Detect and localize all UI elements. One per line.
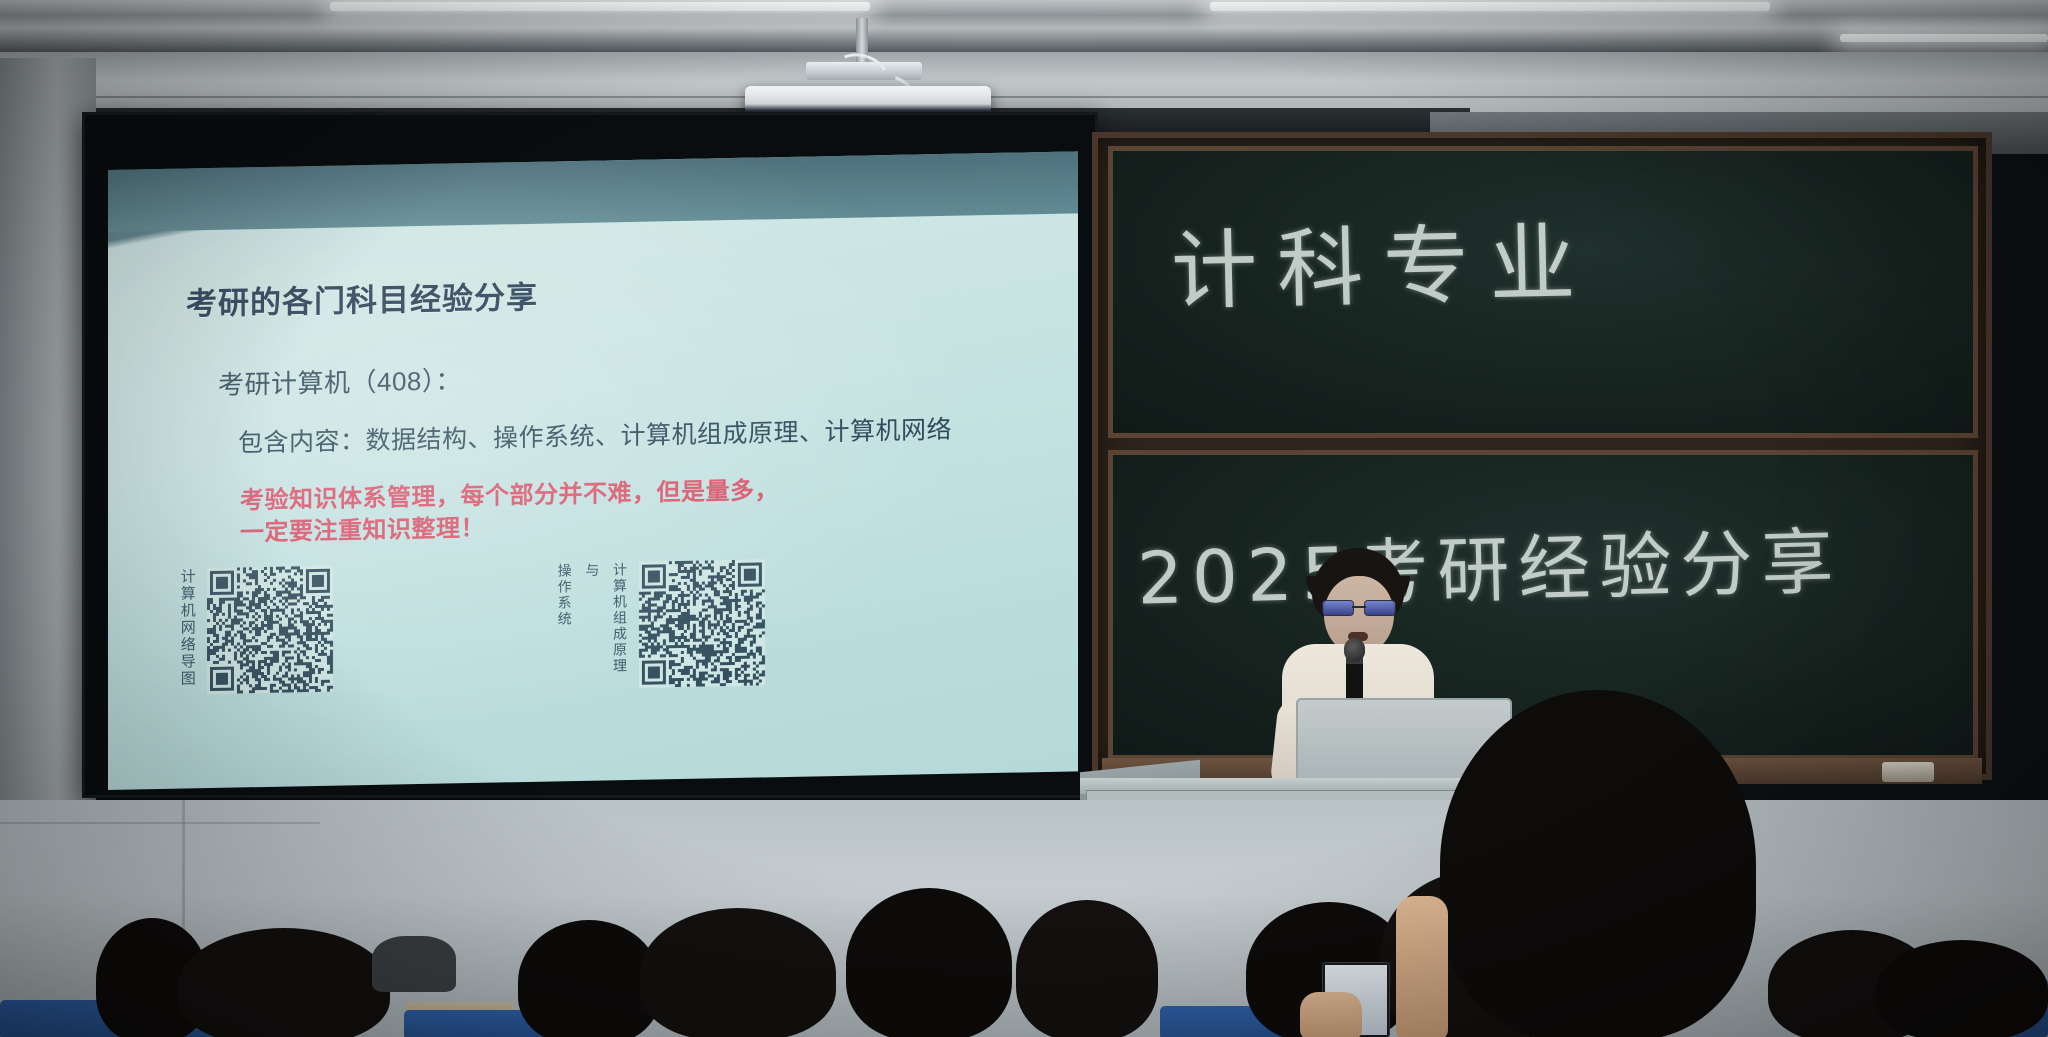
wall-seam: [0, 96, 2048, 98]
microphone-head: [1344, 638, 1365, 662]
audience-head: [178, 928, 390, 1037]
blackboard-eraser[interactable]: [1882, 762, 1934, 782]
glasses-lens-right: [1364, 600, 1396, 616]
slide-qr-row: 计算机网络导图 操作系统 与 计算机组成原理: [108, 543, 1078, 752]
audience-head: [1016, 900, 1158, 1037]
qr-network-label: 计算机网络导图: [178, 568, 195, 687]
audience-head: [518, 920, 660, 1037]
slide-content: 考研的各门科目经验分享 考研计算机（408）： 包含内容：数据结构、操作系统、计…: [108, 213, 1078, 790]
glasses-bridge: [1352, 606, 1366, 608]
glasses-lens-left: [1322, 600, 1354, 616]
chalk-text-topic: 2025考研经验分享: [1136, 502, 1844, 624]
audience-head-foreground: [1440, 690, 1756, 1037]
blackboard: 计科专业 2025考研经验分享: [1092, 132, 1992, 780]
qr-os-and-architecture[interactable]: [639, 559, 765, 687]
chalk-text-major: 计科专业: [1170, 193, 1597, 327]
audience-head: [640, 908, 836, 1037]
slide-contents-line: 包含内容：数据结构、操作系统、计算机组成原理、计算机网络: [238, 408, 1038, 459]
blackboard-panel-top: 计科专业: [1108, 146, 1978, 438]
qr-architecture-label: 计算机组成原理: [611, 562, 627, 674]
ceiling-light-right: [1210, 2, 1770, 11]
presenter-glasses: [1322, 600, 1396, 614]
audience-head: [846, 888, 1012, 1037]
audience-hand-holding-phone: [1300, 992, 1362, 1037]
qr-network-mindmap[interactable]: [207, 566, 333, 694]
lecture-hall-scene: 考研的各门科目经验分享 考研计算机（408）： 包含内容：数据结构、操作系统、计…: [0, 0, 2048, 1037]
slide-subject-line: 考研计算机（408）：: [218, 349, 1038, 402]
qr-os-label: 操作系统: [556, 563, 572, 627]
qr-group-os-arch: 操作系统 与 计算机组成原理: [556, 559, 765, 689]
ceiling-light-far-right: [1840, 34, 2048, 42]
wall-horizontal-line: [0, 822, 320, 824]
audience-head: [1876, 940, 2048, 1037]
projection-screen: 考研的各门科目经验分享 考研计算机（408）： 包含内容：数据结构、操作系统、计…: [108, 151, 1078, 790]
qr-group-network: 计算机网络导图: [178, 566, 333, 695]
audience-hand-raised: [1396, 896, 1448, 1037]
audience-cap: [372, 936, 456, 992]
slide-emphasis-text: 考验知识体系管理，每个部分并不难，但是量多， 一定要注重知识整理！: [240, 470, 1038, 550]
ceiling-light-left: [330, 2, 870, 11]
slide-title: 考研的各门科目经验分享: [186, 262, 1038, 323]
qr-and-label: 与: [584, 563, 600, 579]
